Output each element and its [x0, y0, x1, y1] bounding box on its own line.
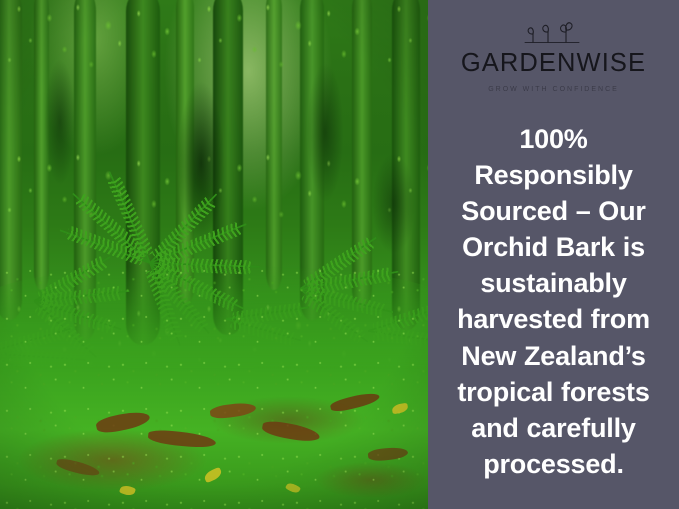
- photo-vignette: [0, 0, 428, 509]
- brand-tagline: GROW WITH CONFIDENCE: [488, 86, 619, 93]
- headline-text: 100% Responsibly Sourced – Our Orchid Ba…: [438, 121, 669, 483]
- brand-logo: GARDENWISE GROW WITH CONFIDENCE: [438, 19, 669, 93]
- promotional-banner: GARDENWISE GROW WITH CONFIDENCE 100% Res…: [0, 0, 679, 509]
- plant-sprouts-icon: [523, 19, 585, 46]
- forest-photo: [0, 0, 428, 509]
- message-panel: GARDENWISE GROW WITH CONFIDENCE 100% Res…: [428, 0, 679, 509]
- brand-name: GARDENWISE: [461, 51, 646, 77]
